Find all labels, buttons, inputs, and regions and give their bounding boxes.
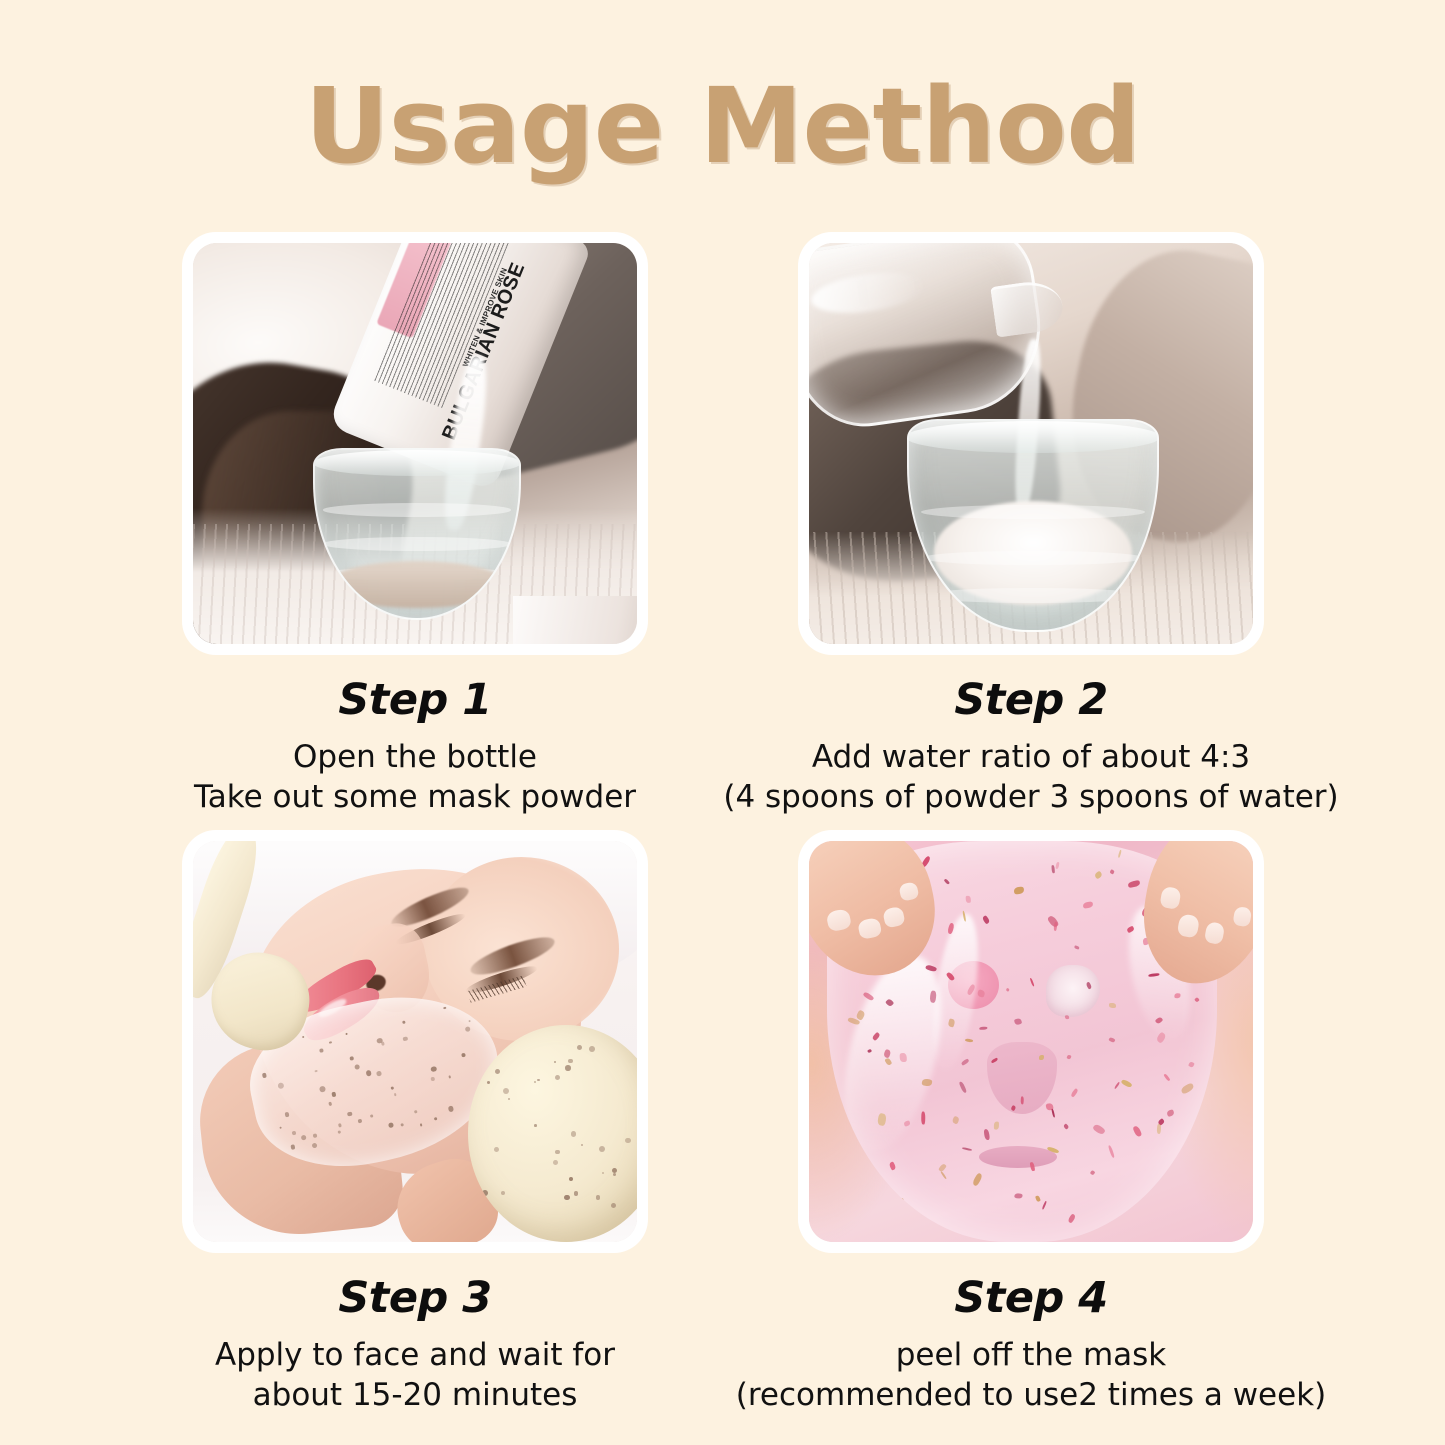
- step-3-photo-frame: [182, 830, 648, 1253]
- step-4-photo-frame: [798, 830, 1264, 1253]
- photo-4-fingernail: [899, 881, 919, 901]
- usage-method-infographic: Usage Method WHITEN & IMPROVE: [0, 0, 1445, 1445]
- photo-4-fingernail: [1177, 913, 1200, 938]
- pouring-water-into-powder-bowl-photo: [809, 243, 1253, 644]
- photo-3-bowl-petal-specks: [468, 1025, 637, 1242]
- photo-3-mask-bowl: [468, 1025, 637, 1242]
- step-2-photo-frame: [798, 232, 1264, 655]
- photo-4-fingernail: [1232, 906, 1252, 927]
- step-2-label: Step 2: [798, 677, 1264, 724]
- step-3-label: Step 3: [182, 1275, 648, 1322]
- photo-4-fingernail: [1204, 921, 1226, 944]
- step-card-3: Step 3 Apply to face and wait for about …: [182, 830, 648, 1416]
- step-1-label: Step 1: [182, 677, 648, 724]
- peeling-off-jelly-mask-photo: [809, 841, 1253, 1242]
- step-card-1: WHITEN & IMPROVE SKIN BULGARIAN ROSE Ste…: [182, 232, 648, 818]
- photo-1-bowl-ring: [323, 537, 511, 550]
- photo-2-bowl-rim: [907, 421, 1160, 452]
- step-3-description: Apply to face and wait for about 15-20 m…: [165, 1336, 665, 1415]
- step-1-description: Open the bottle Take out some mask powde…: [182, 738, 648, 817]
- bottle-pouring-powder-into-bowl-photo: WHITEN & IMPROVE SKIN BULGARIAN ROSE: [193, 243, 637, 644]
- photo-2-bowl-ring: [921, 505, 1145, 520]
- photo-1-bowl-rim: [313, 450, 521, 477]
- photo-1-glass-bowl: [313, 448, 521, 620]
- photo-2-glass-bowl: [907, 419, 1160, 632]
- step-2-description: Add water ratio of about 4:3 (4 spoons o…: [711, 738, 1351, 817]
- photo-4-fingernail: [857, 917, 882, 939]
- photo-4-fingernail: [1160, 886, 1182, 909]
- photo-1-bowl-contents: [327, 561, 507, 608]
- step-card-2: Step 2 Add water ratio of about 4:3 (4 s…: [798, 232, 1264, 818]
- step-4-description: peel off the mask (recommended to use2 t…: [711, 1336, 1351, 1415]
- step-4-label: Step 4: [798, 1275, 1264, 1322]
- photo-4-fingernail: [882, 906, 905, 928]
- photo-1-bottle-neck: [513, 596, 637, 644]
- steps-grid: WHITEN & IMPROVE SKIN BULGARIAN ROSE Ste…: [182, 232, 1268, 1432]
- applying-mask-to-face-photo: [193, 841, 637, 1242]
- step-card-4: Step 4 peel off the mask (recommended to…: [798, 830, 1264, 1416]
- photo-2-bowl-ring: [921, 588, 1145, 603]
- page-title: Usage Method: [0, 72, 1445, 181]
- photo-1-bowl-ring: [323, 503, 511, 516]
- step-1-photo-frame: WHITEN & IMPROVE SKIN BULGARIAN ROSE: [182, 232, 648, 655]
- photo-4-fingernail: [826, 908, 852, 932]
